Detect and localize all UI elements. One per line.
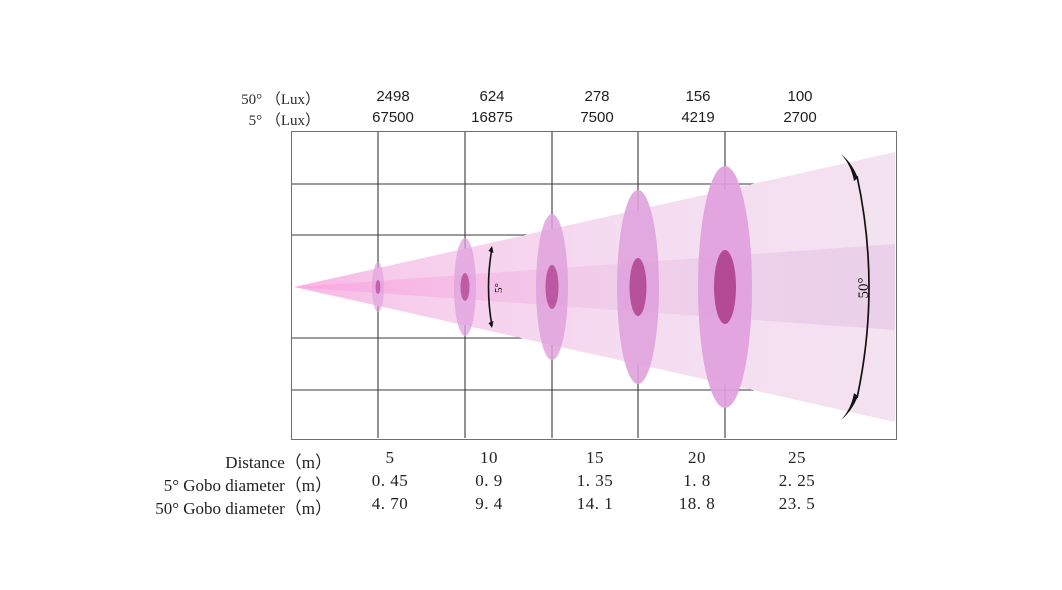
gobo-5deg-value-10m: 0. 9 bbox=[439, 471, 539, 491]
beam-angle-50deg-label: 50° bbox=[856, 278, 872, 299]
gobo-5deg-value-5m: 0. 45 bbox=[340, 471, 440, 491]
distance-value-5m: 5 bbox=[340, 448, 440, 468]
gobo-inner-25m bbox=[714, 250, 736, 324]
lux-row-5deg-label: 5° （Lux） bbox=[249, 109, 320, 130]
gobo-50deg-value-25m: 23. 5 bbox=[747, 494, 847, 514]
gobo-inner-20m bbox=[630, 258, 647, 316]
lux-50deg-value-5m: 2498 bbox=[350, 88, 436, 105]
lux-header-table: 50° （Lux） 2498 624 278 156 100 5° （Lux） … bbox=[0, 88, 1062, 130]
lux-5deg-value-10m: 16875 bbox=[449, 109, 535, 126]
lux-5deg-value-25m: 2700 bbox=[757, 109, 843, 126]
distance-value-20m: 20 bbox=[647, 448, 747, 468]
lux-row-50deg: 50° （Lux） 2498 624 278 156 100 bbox=[0, 88, 1062, 109]
gobo-inner-5m bbox=[376, 280, 381, 294]
distance-value-15m: 15 bbox=[545, 448, 645, 468]
gobo-50deg-value-15m: 14. 1 bbox=[545, 494, 645, 514]
footer-row-gobo-50deg: 50° Gobo diameter（m） 4. 70 9. 4 14. 1 18… bbox=[0, 494, 1062, 517]
footer-row-distance-label: Distance（m） bbox=[225, 448, 332, 473]
lux-5deg-value-15m: 7500 bbox=[554, 109, 640, 126]
gobo-5deg-value-20m: 1. 8 bbox=[647, 471, 747, 491]
distance-value-25m: 25 bbox=[747, 448, 847, 468]
beam-plot-area: 5° 50° bbox=[291, 131, 897, 440]
footer-row-gobo-50deg-label: 50° Gobo diameter（m） bbox=[155, 494, 332, 519]
distance-value-10m: 10 bbox=[439, 448, 539, 468]
gobo-inner-10m bbox=[461, 273, 470, 301]
gobo-5deg-value-15m: 1. 35 bbox=[545, 471, 645, 491]
lux-5deg-value-20m: 4219 bbox=[655, 109, 741, 126]
gobo-50deg-value-5m: 4. 70 bbox=[340, 494, 440, 514]
footer-row-distance: Distance（m） 5 10 15 20 25 bbox=[0, 448, 1062, 471]
gobo-5deg-value-25m: 2. 25 bbox=[747, 471, 847, 491]
distance-footer-table: Distance（m） 5 10 15 20 25 5° Gobo diamet… bbox=[0, 448, 1062, 517]
lux-5deg-value-5m: 67500 bbox=[350, 109, 436, 126]
gobo-50deg-value-20m: 18. 8 bbox=[647, 494, 747, 514]
lux-50deg-value-15m: 278 bbox=[554, 88, 640, 105]
lux-50deg-value-25m: 100 bbox=[757, 88, 843, 105]
lux-50deg-value-10m: 624 bbox=[449, 88, 535, 105]
lux-row-50deg-label: 50° （Lux） bbox=[241, 88, 320, 109]
gobo-50deg-value-10m: 9. 4 bbox=[439, 494, 539, 514]
beam-angle-5deg-label: 5° bbox=[493, 283, 505, 293]
footer-row-gobo-5deg: 5° Gobo diameter（m） 0. 45 0. 9 1. 35 1. … bbox=[0, 471, 1062, 494]
gobo-inner-15m bbox=[546, 265, 559, 309]
footer-row-gobo-5deg-label: 5° Gobo diameter（m） bbox=[164, 471, 332, 496]
beam-diagram-svg: 5° 50° bbox=[292, 132, 895, 438]
lux-row-5deg: 5° （Lux） 67500 16875 7500 4219 2700 bbox=[0, 109, 1062, 130]
lux-50deg-value-20m: 156 bbox=[655, 88, 741, 105]
photometric-diagram: 50° （Lux） 2498 624 278 156 100 5° （Lux） … bbox=[0, 0, 1062, 590]
